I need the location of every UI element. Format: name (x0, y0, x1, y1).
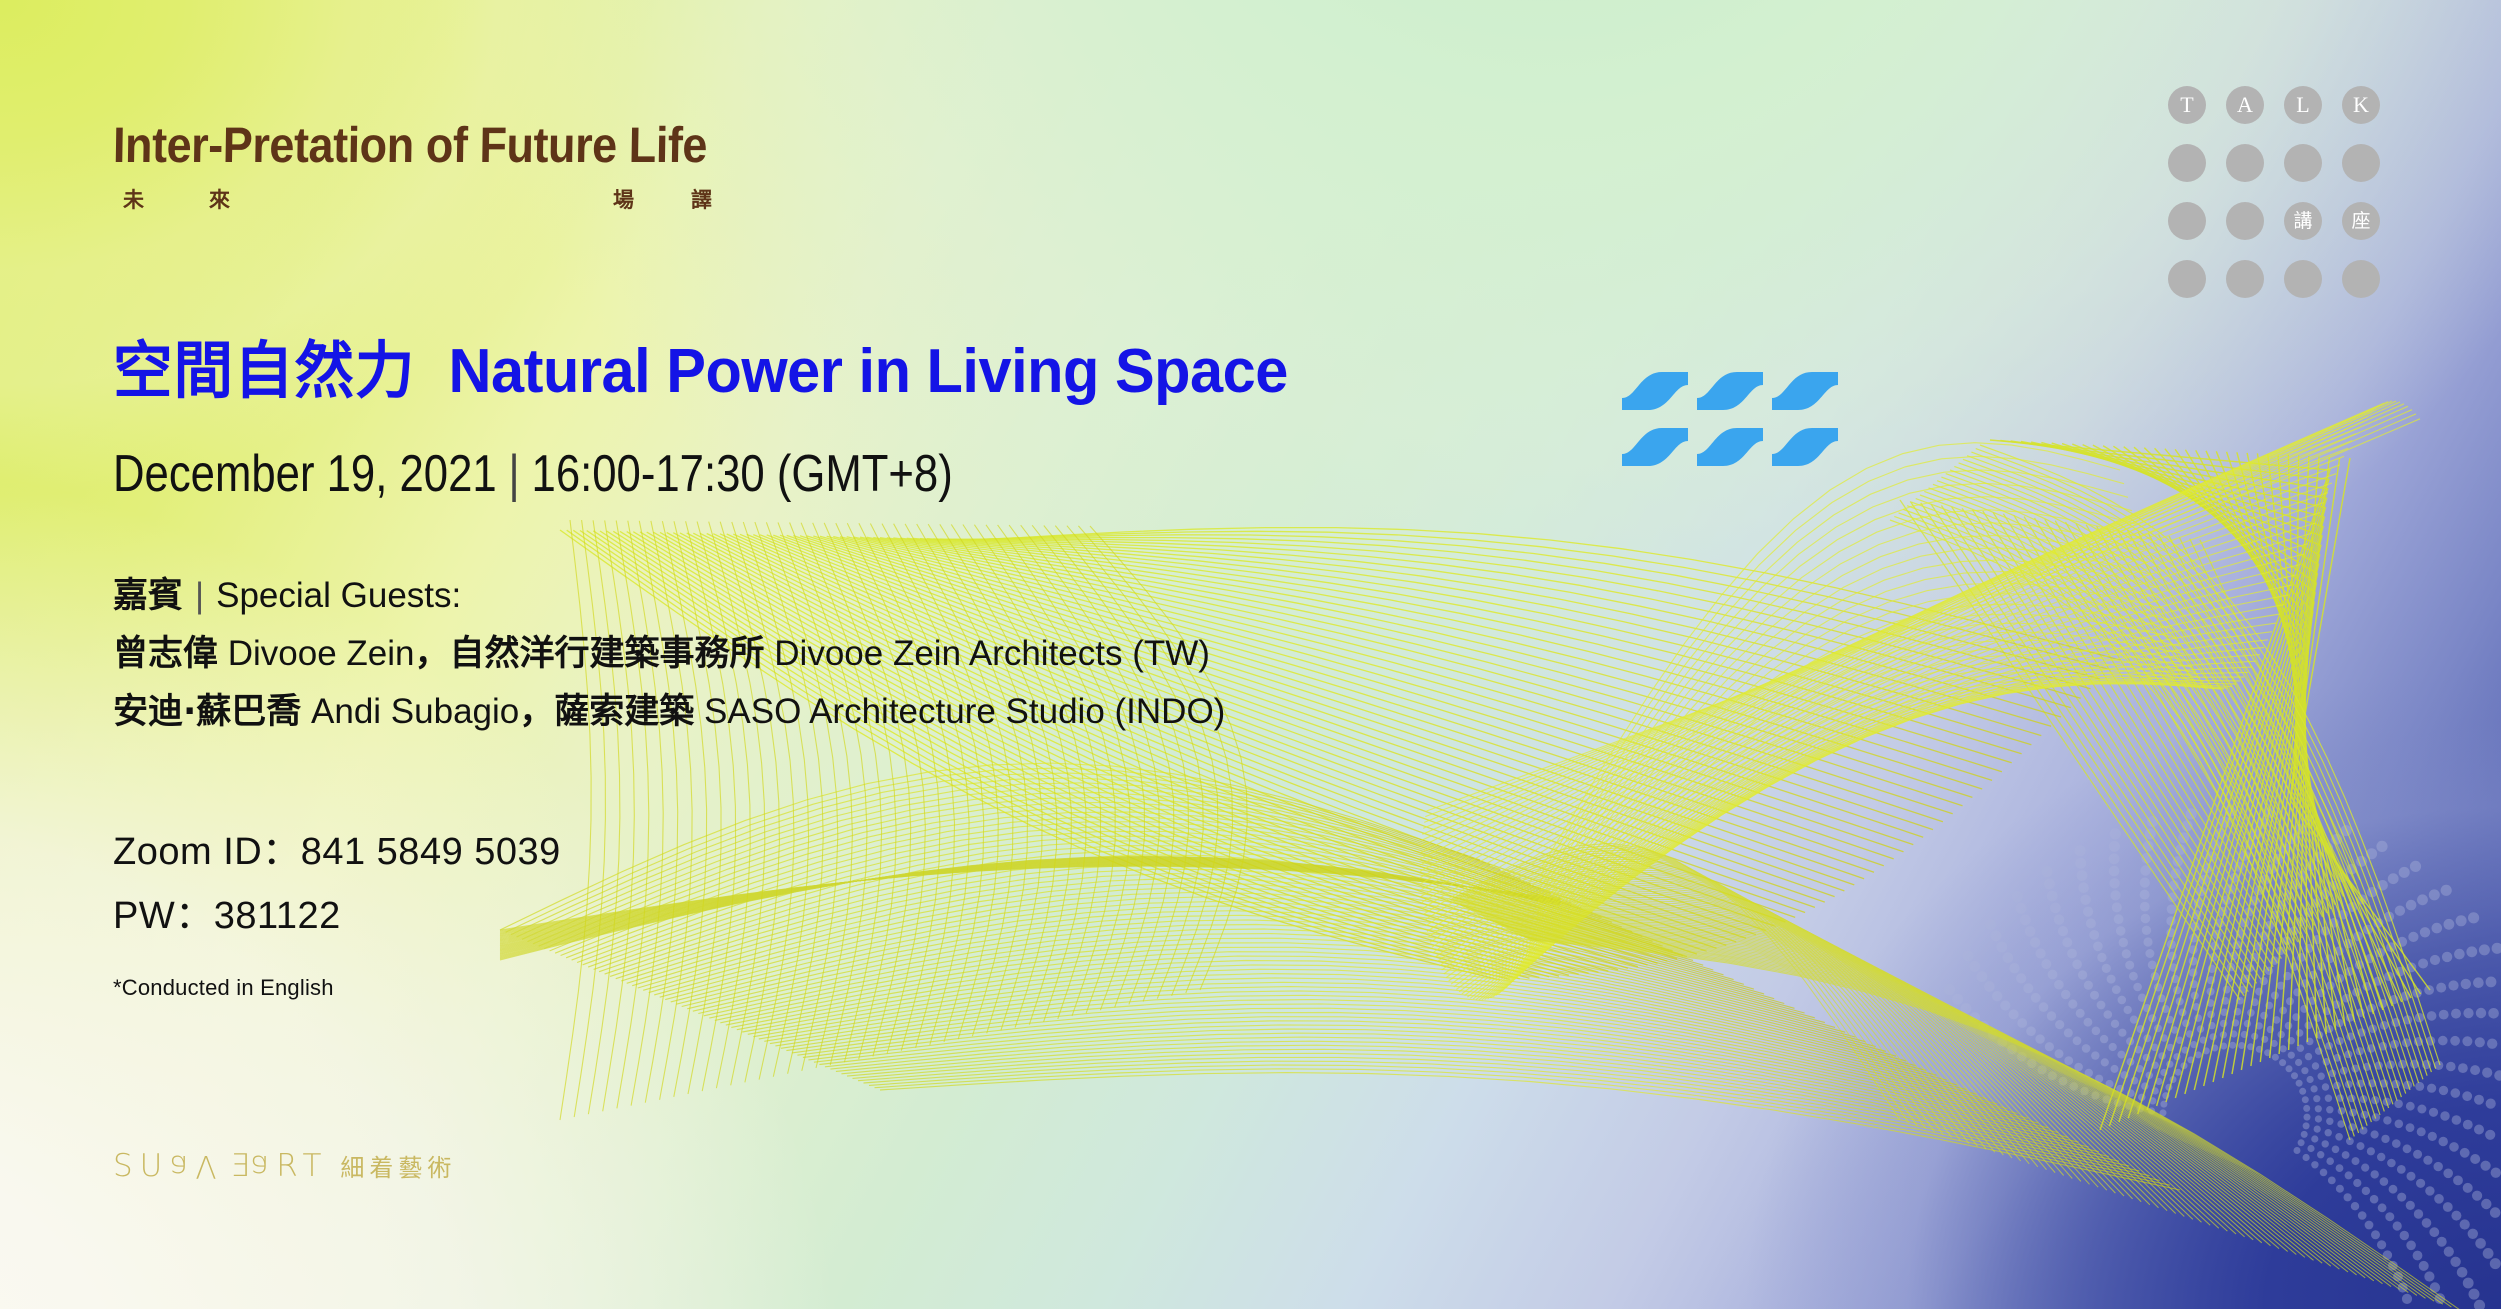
art-curve (715, 947, 1876, 1046)
fan-dot (2376, 841, 2387, 852)
fan-dot (1984, 981, 1995, 992)
fan-dot (2371, 1170, 2379, 1178)
header-chinese-char-4: 譯 (691, 184, 712, 214)
fan-dot (2039, 1002, 2049, 1012)
fan-dot (2389, 1185, 2398, 1194)
fan-dot (2315, 1105, 2322, 1112)
fan-dot (2089, 930, 2099, 940)
fan-dot (2315, 1115, 2322, 1122)
fan-dot (2383, 1250, 2392, 1259)
fan-dot (2468, 912, 2479, 923)
fan-dot (2122, 949, 2131, 958)
fan-dot (2084, 1018, 2093, 1027)
fan-dot (2486, 1099, 2496, 1109)
talk-badge-dot-2-0 (2168, 202, 2206, 240)
fan-dot (2491, 1168, 2501, 1178)
fan-dot (2490, 1207, 2501, 1218)
fan-dot (2328, 1177, 2336, 1185)
fan-dot (2298, 1139, 2305, 1146)
fan-dot (2490, 1258, 2501, 1269)
fan-dot (2301, 1067, 2308, 1074)
fan-dot (1996, 942, 2007, 953)
fan-dot (2030, 937, 2040, 947)
fan-dot (2414, 1209, 2423, 1218)
fan-dot (2050, 903, 2061, 914)
fan-dot (2413, 1251, 2423, 1261)
fan-dot (2479, 944, 2490, 955)
brand-header: Inter-Pretation of Future Life 未 來 場 譯 (113, 120, 773, 220)
fan-dot (2140, 902, 2150, 912)
fan-dot (1977, 971, 1988, 982)
fan-dot (2483, 1248, 2494, 1259)
fan-dot (2314, 1126, 2321, 1133)
fan-dot (2488, 1008, 2499, 1019)
fan-dot (2475, 1037, 2485, 1047)
fan-dot (2476, 1008, 2486, 1018)
fan-dot (2470, 1154, 2480, 1164)
fan-dot (2307, 1076, 2314, 1083)
fan-dot (2129, 972, 2138, 981)
fan-dot (2012, 891, 2023, 902)
fan-dot (2418, 959, 2428, 969)
fan-dot (2325, 1095, 2332, 1102)
fan-dot (2061, 990, 2070, 999)
fan-dot (2474, 1125, 2484, 1135)
fan-dot (2313, 1095, 2320, 1102)
fan-dot (2119, 938, 2128, 947)
event-time: 16:00-17:30 (GMT+8) (532, 445, 953, 503)
wave-icon (1622, 368, 1852, 478)
fan-dot (2460, 1148, 2470, 1158)
fan-dot (2362, 1187, 2370, 1195)
guest-1-name-english: Divooe Zein (228, 634, 415, 673)
fan-dot (2444, 1247, 2454, 1257)
fan-dot (2112, 985, 2121, 994)
fan-dot (2303, 1154, 2310, 1161)
talk-badge-char: L (2296, 94, 2309, 116)
header-chinese-char-1: 未 (123, 184, 144, 214)
fan-dot (2097, 953, 2106, 962)
meeting-access-info: Zoom ID：841 5849 5039 PW：381122 (113, 832, 561, 960)
talk-badge-dot-0-2: L (2284, 86, 2322, 124)
fan-dot (2055, 1020, 2064, 1029)
fan-dot (2417, 1127, 2426, 1136)
fan-dot (2360, 1127, 2368, 1135)
talk-badge-dot-1-3 (2342, 144, 2380, 182)
fan-dot (1944, 984, 1955, 995)
fan-dot (2111, 1020, 2119, 1028)
talk-badge-char: A (2237, 94, 2253, 116)
fan-dot (2322, 1083, 2329, 1090)
fan-dot (2279, 1059, 2286, 1066)
fan-dot (2086, 918, 2096, 928)
fan-dot (2462, 1091, 2472, 1101)
fan-dot (2383, 1116, 2391, 1124)
talk-badge-grid: TALK講座 (2168, 86, 2380, 298)
guests-heading: 嘉賓|Special Guests: (113, 578, 1225, 614)
fan-dot (2381, 1135, 2389, 1143)
fan-dot (2109, 853, 2120, 864)
fan-dot (2311, 1085, 2318, 1092)
zoom-id-label: Zoom ID (113, 831, 262, 873)
fan-dot (2110, 890, 2120, 900)
fan-dot (2387, 1159, 2396, 1168)
header-chinese-char-3: 場 (613, 184, 634, 214)
fan-dot (2100, 1035, 2108, 1043)
fan-dot (2406, 1201, 2415, 1210)
fan-dot (2425, 1186, 2434, 1195)
fan-dot (2054, 980, 2064, 990)
guests-label-chinese: 嘉賓 (113, 576, 183, 616)
talk-badge-dot-0-0: T (2168, 86, 2206, 124)
fan-dot (2244, 1020, 2251, 1027)
header-chinese-char-2: 來 (209, 184, 230, 214)
fan-dot (2357, 1142, 2365, 1150)
guest-entry-2: 安迪·蘇巴喬 Andi Subagio，薩索建築 SASO Architectu… (113, 694, 1225, 730)
guest-1-studio-english: Divooe Zein Architects (TW) (774, 634, 1210, 673)
fan-dot (2444, 919, 2455, 930)
suaveart-wordmark: SUaVEaRT (113, 1148, 328, 1184)
zoom-pw-line: PW：381122 (113, 896, 561, 935)
zoom-pw-colon: ： (175, 893, 214, 937)
fan-dot (2041, 866, 2052, 877)
fan-dot (2403, 1144, 2412, 1153)
guest-2-name-english: Andi Subagio (311, 692, 519, 731)
fan-dot (2395, 1120, 2404, 1129)
fan-dot (2303, 1105, 2310, 1112)
fan-dot (2468, 1229, 2478, 1239)
talk-badge-dot-0-3: K (2342, 86, 2380, 124)
fan-dot (2291, 1072, 2298, 1079)
fan-dot (2111, 1065, 2119, 1073)
talk-badge-dot-2-1 (2226, 202, 2264, 240)
fan-dot (2074, 845, 2085, 856)
fan-dot (2429, 1108, 2438, 1117)
fan-dot (2365, 1221, 2374, 1230)
fan-dot (2451, 1009, 2461, 1019)
fan-dot (2301, 1131, 2308, 1138)
fan-dot (2229, 1042, 2236, 1049)
fan-dot (2064, 1028, 2073, 1037)
fan-dot (2434, 1162, 2443, 1171)
fan-dot (2302, 1096, 2309, 1103)
guest-2-studio-english: SASO Architecture Studio (INDO) (704, 692, 1225, 731)
fan-dot (2020, 915, 2031, 926)
fan-dot (2371, 1230, 2380, 1239)
wave-stroke (1697, 428, 1763, 466)
fan-dot (2286, 997, 2294, 1005)
fan-dot (2463, 1120, 2473, 1130)
fan-dot (2084, 981, 2093, 990)
fan-dot (2304, 1114, 2311, 1121)
fan-dot (2148, 961, 2157, 970)
fan-dot (2439, 1086, 2448, 1095)
fan-dot (2272, 1054, 2279, 1061)
suaveart-v: V (195, 1148, 223, 1184)
fan-dot (2361, 1164, 2369, 1172)
art-curve (1514, 932, 2348, 1272)
fan-dot (2370, 1195, 2379, 1204)
fan-dot (2367, 1147, 2375, 1155)
fan-dot (2336, 1185, 2344, 1193)
art-curve (1520, 935, 2391, 1287)
fan-dot (2485, 1130, 2495, 1140)
fan-dot (2462, 1036, 2472, 1046)
fan-dot (2076, 1009, 2085, 1018)
fan-dot (2077, 870, 2088, 881)
fan-dot (1992, 991, 2002, 1001)
fan-dot (2142, 926, 2151, 935)
fan-dot (2110, 828, 2121, 839)
fan-dot (2000, 1000, 2010, 1010)
fan-dot (2031, 993, 2041, 1003)
talk-badge-dot-3-2 (2284, 260, 2322, 298)
fan-dot (2475, 1238, 2486, 1249)
fan-dot (2415, 1082, 2424, 1091)
fan-dot (2457, 1267, 2468, 1278)
event-poster: Inter-Pretation of Future Life 未 來 場 譯 空… (0, 0, 2501, 1309)
fan-dot (2439, 1137, 2448, 1146)
fan-dot (2062, 937, 2072, 947)
fan-dot (2093, 942, 2103, 952)
fan-dot (2303, 1122, 2310, 1129)
fan-dot (2026, 1026, 2036, 1036)
fan-dot (2041, 959, 2051, 969)
fan-dot (2446, 1062, 2456, 1072)
language-note: *Conducted in English (113, 975, 334, 1001)
fan-dot (2117, 1051, 2125, 1059)
fan-dot (2311, 1135, 2318, 1142)
guest-2-studio-chinese: 薩索建築 (554, 692, 694, 732)
fan-dot (2345, 1171, 2353, 1179)
page-title: 空間自然力 Natural Power in Living Space (113, 340, 1288, 403)
fan-dot (2450, 1257, 2460, 1267)
fan-dot (2388, 873, 2399, 884)
fan-dot (2017, 1018, 2027, 1028)
fan-dot (2318, 1073, 2325, 1080)
fan-dot (2109, 866, 2120, 877)
talk-badge-char: K (2353, 94, 2369, 116)
fan-dot (2406, 1102, 2415, 1111)
fan-dot (2326, 1118, 2333, 1125)
fan-dot (2494, 1070, 2501, 1080)
fan-dot (2305, 1053, 2312, 1060)
fan-dot (2073, 1036, 2082, 1045)
header-english-title: Inter-Pretation of Future Life (113, 120, 708, 170)
fan-dot (2280, 1045, 2287, 1052)
fan-dot (2451, 1088, 2461, 1098)
fan-dot (2097, 1001, 2106, 1010)
guest-2-name-chinese: 安迪·蘇巴喬 (113, 692, 301, 732)
fan-dot (2045, 1042, 2054, 1051)
fan-dot (2422, 1218, 2432, 1228)
fan-dot (2378, 1203, 2387, 1212)
fan-dot (2288, 1052, 2295, 1059)
fan-dot (2423, 1156, 2432, 1165)
talk-badge-dot-0-1: A (2226, 86, 2264, 124)
fan-dot (2380, 1177, 2389, 1186)
fan-dot (2395, 906, 2405, 916)
fan-dot (2092, 1027, 2101, 1036)
fan-dot (2080, 895, 2090, 905)
fan-dot (2432, 923, 2443, 934)
fan-dot (2064, 1056, 2073, 1065)
fan-dot (2311, 1161, 2318, 1168)
datetime-separator: | (497, 445, 532, 503)
fan-dot (2351, 1202, 2359, 1210)
fan-dot (2047, 1011, 2056, 1020)
event-date: December 19, 2021 (113, 445, 497, 503)
fan-dot (2420, 927, 2430, 937)
fan-dot (2112, 902, 2122, 912)
fan-dot (2482, 1068, 2492, 1078)
fan-dot (2320, 1169, 2328, 1177)
fan-dot (2068, 999, 2077, 1008)
fan-dot (2332, 1146, 2340, 1154)
fan-dot (2025, 926, 2036, 937)
fan-dot (2075, 858, 2086, 869)
talk-badge-char: 講 (2293, 212, 2312, 231)
fan-dot (2416, 1179, 2425, 1188)
fan-dot (2107, 975, 2116, 984)
fan-dot (2428, 1132, 2437, 1141)
fan-dot (2325, 1129, 2332, 1136)
fan-dot (2427, 1011, 2437, 1021)
fan-dot (2114, 914, 2124, 924)
fan-dot (2450, 1036, 2460, 1046)
fan-dot (2286, 1065, 2293, 1072)
fan-dot (2400, 1231, 2409, 1240)
fan-dot (2044, 878, 2055, 889)
fan-dot (2461, 979, 2471, 989)
art-line (1921, 503, 2249, 992)
zoom-pw-value: 381122 (214, 895, 341, 937)
fan-dot (2353, 1179, 2361, 1187)
fan-dot (2118, 996, 2127, 1005)
fan-dot (2101, 1058, 2109, 1066)
fan-dot (2285, 1022, 2293, 1030)
fan-dot (2440, 1111, 2449, 1120)
fan-dot (2481, 1161, 2491, 1171)
fan-dot (1952, 994, 1963, 1005)
fan-dot (2417, 894, 2428, 905)
fan-dot (2104, 1010, 2113, 1019)
fan-dot (2449, 1142, 2459, 1152)
suaveart-e: E (224, 1148, 251, 1184)
talk-badge-dot-3-1 (2226, 260, 2264, 298)
fan-dot (2439, 1010, 2449, 1020)
talk-badge-dot-1-2 (2284, 144, 2322, 182)
fan-dot (2406, 1123, 2415, 1132)
fan-dot (2458, 1063, 2468, 1073)
fan-dot (2109, 878, 2119, 888)
talk-badge-dot-1-1 (2226, 144, 2264, 182)
title-chinese: 空間自然力 (113, 334, 415, 407)
fan-dot (2394, 1100, 2403, 1109)
wave-stroke (1622, 372, 1688, 410)
talk-badge-char: T (2180, 94, 2193, 116)
fan-dot (2344, 1193, 2352, 1201)
fan-dot (2424, 1271, 2434, 1281)
talk-badge-dot-3-3 (2342, 260, 2380, 298)
fan-dot (2295, 1059, 2302, 1066)
fan-dot (2473, 977, 2484, 988)
art-curve (1533, 572, 2160, 931)
fan-dot (2175, 1069, 2182, 1076)
fan-dot (2055, 1049, 2064, 1058)
wave-stroke (1772, 428, 1838, 466)
suaveart-a2: a (250, 1148, 276, 1184)
fan-dot (2124, 1006, 2132, 1014)
fan-dot (2410, 861, 2421, 872)
fan-dot (2072, 960, 2082, 970)
fan-dot (2035, 1034, 2044, 1043)
fan-dot (2299, 1088, 2306, 1095)
fan-dot (2397, 1193, 2406, 1202)
fan-dot (2082, 1044, 2091, 1053)
fan-dot (2048, 970, 2058, 980)
guest-1-name-chinese: 曾志偉 (113, 634, 218, 674)
fan-dot (2429, 1227, 2439, 1237)
zoom-id-line: Zoom ID：841 5849 5039 (113, 832, 561, 871)
fan-dot (2407, 1172, 2416, 1181)
talk-badge-dot-1-0 (2168, 144, 2206, 182)
fan-dot (2393, 1221, 2402, 1230)
fan-dot (2406, 1241, 2416, 1251)
talk-badge-dot-2-2: 講 (2284, 202, 2322, 240)
fan-dot (2047, 891, 2058, 902)
fan-dot (2067, 949, 2077, 959)
fan-dot (2109, 1043, 2117, 1051)
header-chinese-row: 未 來 場 譯 (113, 184, 773, 220)
fan-dot (2260, 977, 2268, 985)
fan-dot (2466, 946, 2477, 957)
fan-dot (2460, 1219, 2470, 1229)
fan-dot (2402, 1294, 2412, 1304)
suaveart-a1: a (169, 1148, 195, 1184)
fan-dot (1969, 961, 1980, 972)
suaveart-logo: SUaVEaRT細着藝術 (113, 1148, 456, 1184)
fan-dot (2377, 1153, 2385, 1161)
zoom-id-colon: ： (262, 829, 301, 873)
fan-dot (2036, 948, 2046, 958)
fan-dot (2016, 973, 2026, 983)
fan-dot (2436, 983, 2446, 993)
fan-dot (2009, 963, 2019, 973)
fan-dot (2463, 1183, 2473, 1193)
fan-dot (2441, 885, 2452, 896)
fan-dot (2427, 1084, 2436, 1093)
art-line (2024, 517, 2290, 951)
fan-dot (2438, 1036, 2448, 1046)
fan-dot (2463, 1278, 2474, 1289)
fan-dot (2448, 980, 2458, 990)
fan-dot (2296, 1080, 2303, 1087)
fan-dot (2442, 952, 2452, 962)
fan-dot (2437, 1237, 2447, 1247)
fan-dot (2140, 878, 2150, 888)
fan-dot (2454, 949, 2465, 960)
wave-stroke (1697, 372, 1763, 410)
talk-badge-char: 座 (2351, 212, 2370, 231)
fan-dot (2326, 1106, 2333, 1113)
fan-dot (2091, 1051, 2099, 1059)
guest-1-comma: ， (415, 634, 450, 674)
fan-dot (2003, 952, 2014, 963)
fan-dot (2074, 1063, 2083, 1072)
fan-dot (2317, 1151, 2324, 1158)
fan-dot (2472, 1191, 2482, 1201)
